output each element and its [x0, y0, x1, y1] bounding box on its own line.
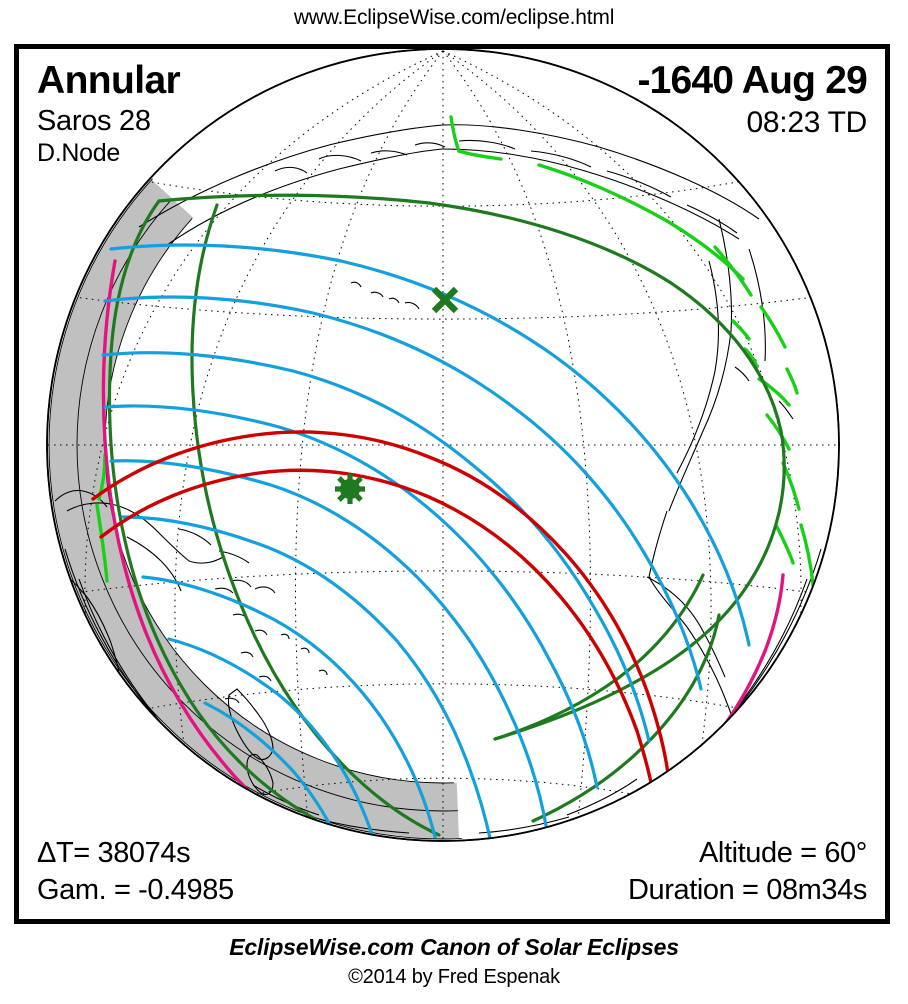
altitude-label: Altitude = 60° [628, 839, 867, 868]
eclipse-summary-top-left: Annular Saros 28 D.Node [37, 61, 180, 166]
eclipse-params-bottom-right: Altitude = 60° Duration = 08m34s [628, 839, 867, 905]
eclipse-globe-map [19, 49, 885, 919]
saros-label: Saros 28 [37, 107, 180, 136]
source-url: www.EclipseWise.com/eclipse.html [0, 6, 908, 30]
canon-title: EclipseWise.com Canon of Solar Eclipses [0, 934, 908, 961]
eclipse-params-bottom-left: ΔT= 38074s Gam. = -0.4985 [37, 839, 234, 905]
eclipse-datetime-top-right: -1640 Aug 29 08:23 TD [637, 61, 867, 138]
duration-label: Duration = 08m34s [628, 876, 867, 905]
node-label: D.Node [37, 141, 180, 166]
eclipse-time-label: 08:23 TD [637, 108, 867, 138]
greatest-eclipse-asterisk [335, 474, 365, 504]
eclipse-date-label: -1640 Aug 29 [637, 61, 867, 100]
copyright-credit: ©2014 by Fred Espenak [0, 966, 908, 989]
delta-t-label: ΔT= 38074s [37, 839, 234, 868]
gamma-label: Gam. = -0.4985 [37, 876, 234, 905]
eclipse-type-label: Annular [37, 61, 180, 100]
eclipse-map-panel: Annular Saros 28 D.Node -1640 Aug 29 08:… [14, 44, 890, 924]
